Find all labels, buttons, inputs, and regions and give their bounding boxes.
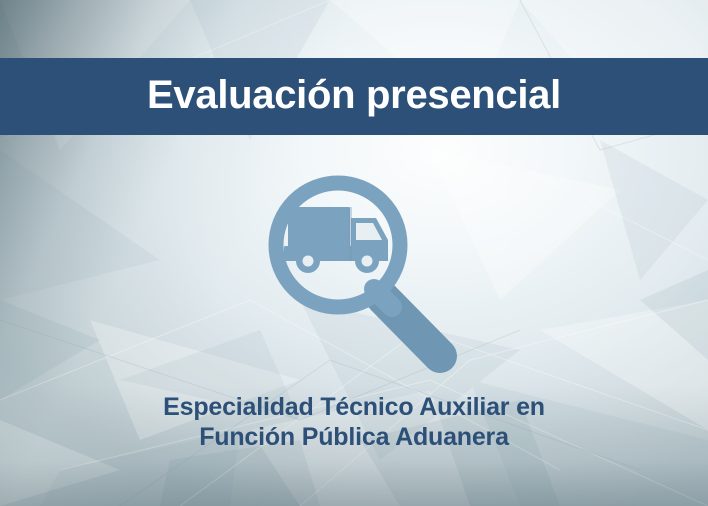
magnifier-truck-icon-container: [250, 158, 470, 383]
subtitle: Especialidad Técnico Auxiliar en Función…: [0, 392, 708, 452]
subtitle-line-1: Especialidad Técnico Auxiliar en: [0, 392, 708, 422]
truck-icon: [284, 207, 388, 273]
subtitle-line-2: Función Pública Aduanera: [0, 422, 708, 452]
magnifying-glass-truck-icon: [250, 158, 470, 383]
slide-canvas: Evaluación presencial: [0, 0, 708, 506]
magnifier-handle-icon: [374, 289, 440, 356]
header-banner: Evaluación presencial: [0, 58, 708, 135]
banner-title: Evaluación presencial: [147, 75, 561, 118]
